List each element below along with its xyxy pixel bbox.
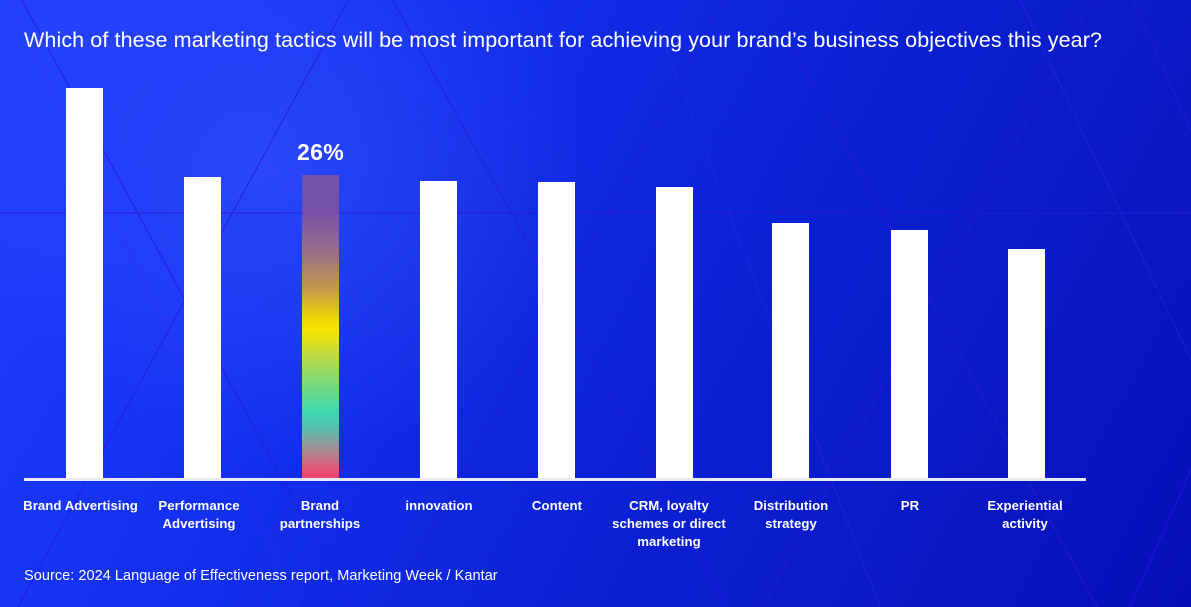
bar-2[interactable]: [302, 175, 339, 479]
bar-value-label: 26%: [261, 139, 381, 166]
bar-0[interactable]: [66, 88, 103, 479]
category-label-0: Brand Advertising: [14, 497, 147, 515]
bar-chart-plot: Brand AdvertisingPerformanceAdvertising2…: [0, 0, 1191, 607]
bar-7[interactable]: [891, 230, 928, 479]
category-label-7: PR: [848, 497, 972, 515]
bar-4[interactable]: [538, 182, 575, 479]
bar-1[interactable]: [184, 177, 221, 479]
bar-5[interactable]: [656, 187, 693, 479]
category-label-1: PerformanceAdvertising: [138, 497, 260, 533]
x-axis-line: [24, 478, 1086, 481]
bar-6[interactable]: [772, 223, 809, 479]
bar-8[interactable]: [1008, 249, 1045, 479]
category-label-6: Distributionstrategy: [727, 497, 855, 533]
bar-3[interactable]: [420, 181, 457, 479]
category-label-3: innovation: [377, 497, 501, 515]
slide-canvas: Which of these marketing tactics will be…: [0, 0, 1191, 607]
category-label-5: CRM, loyaltyschemes or directmarketing: [598, 497, 740, 551]
category-label-8: Experientialactivity: [963, 497, 1087, 533]
source-note: Source: 2024 Language of Effectiveness r…: [24, 568, 498, 584]
category-label-2: Brandpartnerships: [258, 497, 382, 533]
